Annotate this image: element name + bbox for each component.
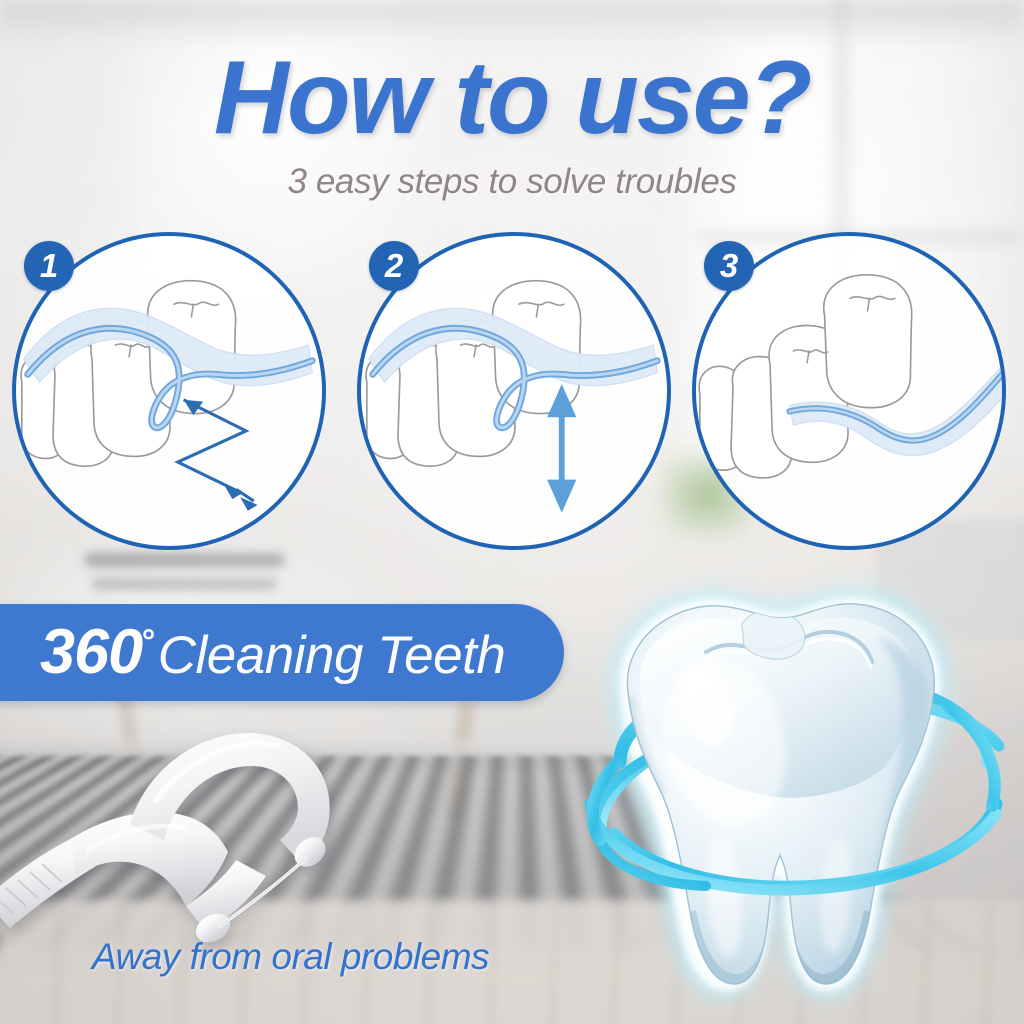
page-tagline: Away from oral problems bbox=[92, 936, 489, 978]
step-1-badge: 1 bbox=[24, 241, 74, 291]
poster-canvas: How to use? 3 easy steps to solve troubl… bbox=[0, 0, 1024, 1024]
banner-label: Cleaning Teeth bbox=[158, 629, 506, 682]
360-cleaning-banner: 360 ° Cleaning Teeth bbox=[0, 604, 564, 701]
tooth-with-orbit-rings bbox=[556, 566, 1024, 1024]
step-3-badge: 3 bbox=[704, 241, 754, 291]
molar-tooth bbox=[622, 604, 934, 984]
step-3: 3 bbox=[692, 232, 1006, 550]
banner-degrees-value: 360 bbox=[40, 621, 142, 684]
page-subtitle: 3 easy steps to solve troubles bbox=[0, 164, 1024, 199]
dental-floss-pick-photo bbox=[0, 700, 420, 960]
steps-row: 1 bbox=[0, 232, 1024, 552]
step-2-badge: 2 bbox=[369, 241, 419, 291]
step-1: 1 bbox=[12, 232, 326, 550]
page-title: How to use? bbox=[0, 46, 1024, 150]
banner-text-group: 360 ° Cleaning Teeth bbox=[40, 621, 505, 684]
step-2: 2 bbox=[357, 232, 671, 550]
banner-degree-symbol: ° bbox=[140, 625, 154, 659]
